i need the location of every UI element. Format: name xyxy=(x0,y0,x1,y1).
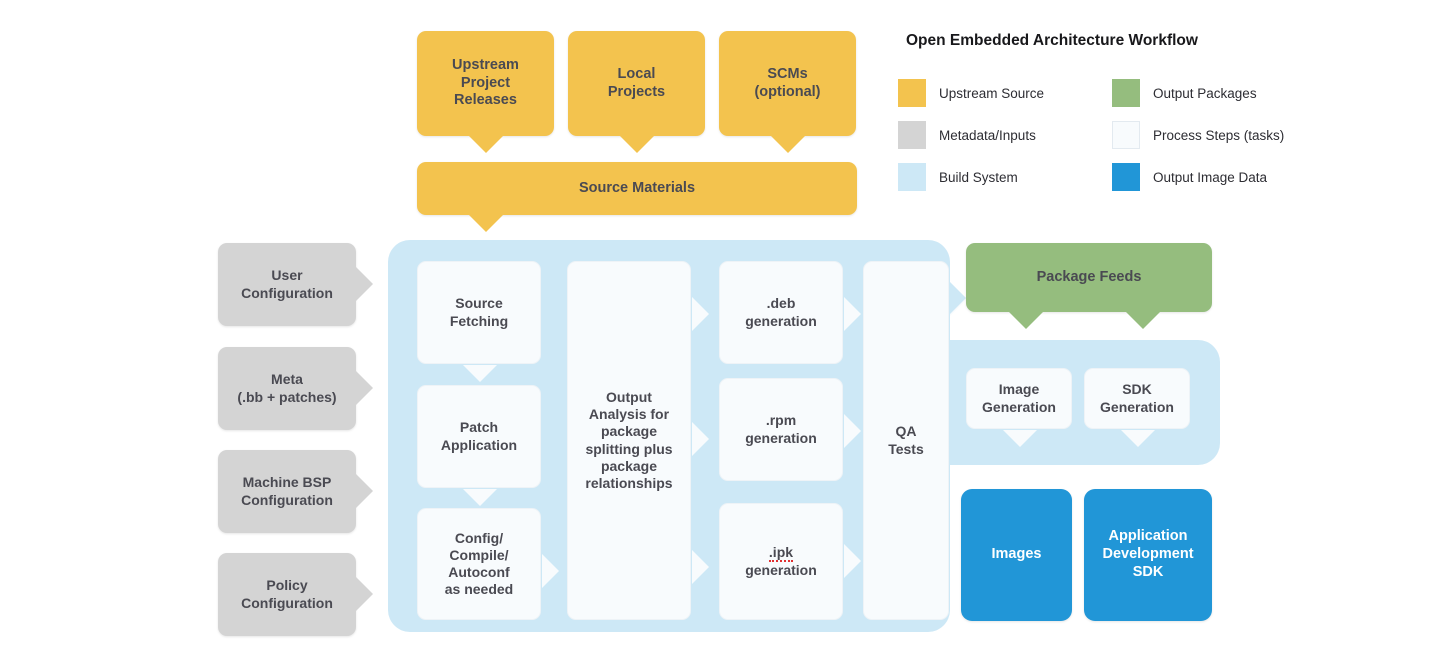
metadata-box-machine-bsp[interactable]: Machine BSP Configuration xyxy=(218,450,356,533)
metadata-box-user-configuration[interactable]: User Configuration xyxy=(218,243,356,326)
task-box-label: .deb generation xyxy=(745,295,817,329)
task-box-label: .rpm generation xyxy=(745,412,817,446)
upstream-box-project-releases[interactable]: Upstream Project Releases xyxy=(417,31,554,136)
arrow-right-icon xyxy=(542,554,559,588)
task-box-rpm-generation[interactable]: .rpm generation xyxy=(719,378,843,481)
arrow-down-icon xyxy=(463,489,497,506)
task-box-config-compile-autoconf[interactable]: Config/ Compile/ Autoconf as needed xyxy=(417,508,541,620)
arrow-down-icon xyxy=(1126,312,1160,329)
output-box-label: Images xyxy=(992,546,1042,564)
arrow-down-icon xyxy=(469,215,503,232)
source-materials-label: Source Materials xyxy=(579,180,695,198)
task-box-label: .ipkgeneration xyxy=(745,544,817,578)
legend-swatch-upstream-source xyxy=(898,79,926,107)
arrow-down-icon xyxy=(1121,430,1155,447)
task-box-output-analysis[interactable]: Output Analysis for package splitting pl… xyxy=(567,261,691,620)
metadata-box-label: User Configuration xyxy=(241,267,333,301)
arrow-right-icon xyxy=(356,577,373,611)
legend-swatch-metadata-inputs xyxy=(898,121,926,149)
diagram-title: Open Embedded Architecture Workflow xyxy=(906,32,1248,50)
task-box-label: Config/ Compile/ Autoconf as needed xyxy=(445,530,513,598)
legend: Open Embedded Architecture Workflow Upst… xyxy=(898,32,1248,198)
upstream-box-label: Local Projects xyxy=(608,66,665,101)
legend-label-process-steps: Process Steps (tasks) xyxy=(1153,128,1284,143)
source-materials-box[interactable]: Source Materials xyxy=(417,162,857,215)
task-box-source-fetching[interactable]: Source Fetching xyxy=(417,261,541,364)
upstream-box-label: Upstream Project Releases xyxy=(452,57,519,110)
package-feeds-label: Package Feeds xyxy=(1037,269,1142,287)
metadata-box-label: Machine BSP Configuration xyxy=(241,474,333,508)
arrow-down-icon xyxy=(1002,465,1036,482)
arrow-right-icon xyxy=(356,474,373,508)
arrow-down-icon xyxy=(463,365,497,382)
task-box-qa-tests[interactable]: QA Tests xyxy=(863,261,949,620)
arrow-right-icon xyxy=(949,281,966,315)
legend-label-output-image-data: Output Image Data xyxy=(1153,170,1284,185)
legend-label-output-packages: Output Packages xyxy=(1153,86,1284,101)
task-box-label: Image Generation xyxy=(982,381,1056,415)
upstream-box-scms[interactable]: SCMs (optional) xyxy=(719,31,856,136)
upstream-box-local-projects[interactable]: Local Projects xyxy=(568,31,705,136)
legend-label-metadata-inputs: Metadata/Inputs xyxy=(939,128,1101,143)
legend-swatch-output-image-data xyxy=(1112,163,1140,191)
output-box-images[interactable]: Images xyxy=(961,489,1072,621)
legend-swatch-process-steps xyxy=(1112,121,1140,149)
legend-label-upstream-source: Upstream Source xyxy=(939,86,1101,101)
metadata-box-meta[interactable]: Meta (.bb + patches) xyxy=(218,347,356,430)
metadata-box-label: Policy Configuration xyxy=(241,577,333,611)
output-box-label: Application Development SDK xyxy=(1102,528,1193,581)
arrow-down-icon xyxy=(771,136,805,153)
task-box-sdk-generation[interactable]: SDK Generation xyxy=(1084,368,1190,429)
task-box-ipk-generation[interactable]: .ipkgeneration xyxy=(719,503,843,620)
legend-swatch-build-system xyxy=(898,163,926,191)
task-box-label: Source Fetching xyxy=(450,295,508,329)
output-box-application-development-sdk[interactable]: Application Development SDK xyxy=(1084,489,1212,621)
legend-grid: Upstream Source Output Packages Metadata… xyxy=(898,72,1248,198)
arrow-down-icon xyxy=(1009,312,1043,329)
task-box-label: SDK Generation xyxy=(1100,381,1174,415)
upstream-box-label: SCMs (optional) xyxy=(754,66,820,101)
diagram-canvas: Upstream Project Releases Local Projects… xyxy=(0,0,1440,669)
arrow-down-icon xyxy=(1120,465,1154,482)
arrow-right-icon xyxy=(844,544,861,578)
arrow-right-icon xyxy=(692,297,709,331)
arrow-right-icon xyxy=(356,267,373,301)
arrow-right-icon xyxy=(844,297,861,331)
arrow-down-icon xyxy=(469,136,503,153)
arrow-right-icon xyxy=(692,550,709,584)
task-box-deb-generation[interactable]: .deb generation xyxy=(719,261,843,364)
metadata-box-policy-configuration[interactable]: Policy Configuration xyxy=(218,553,356,636)
task-box-image-generation[interactable]: Image Generation xyxy=(966,368,1072,429)
arrow-right-icon xyxy=(844,414,861,448)
ipk-misspelled-word: .ipk xyxy=(769,544,793,562)
legend-label-build-system: Build System xyxy=(939,170,1101,185)
arrow-down-icon xyxy=(620,136,654,153)
task-box-label: Patch Application xyxy=(441,419,517,453)
task-box-label: Output Analysis for package splitting pl… xyxy=(585,389,672,491)
arrow-right-icon xyxy=(356,371,373,405)
arrow-right-icon xyxy=(692,422,709,456)
package-feeds-box[interactable]: Package Feeds xyxy=(966,243,1212,312)
legend-swatch-output-packages xyxy=(1112,79,1140,107)
task-box-patch-application[interactable]: Patch Application xyxy=(417,385,541,488)
metadata-box-label: Meta (.bb + patches) xyxy=(237,371,336,405)
arrow-down-icon xyxy=(1003,430,1037,447)
task-box-label: QA Tests xyxy=(888,423,924,457)
